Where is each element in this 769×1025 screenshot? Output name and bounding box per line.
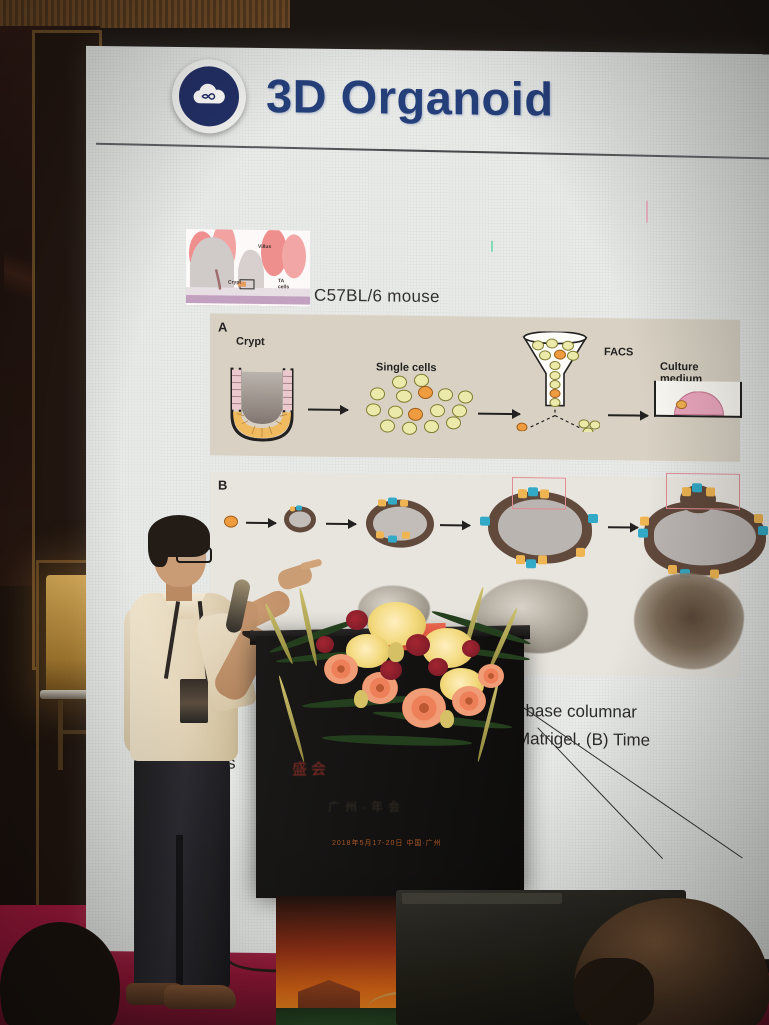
wooden-ceiling	[0, 0, 290, 28]
single-cell-cloud	[210, 313, 740, 319]
arrow-1	[308, 409, 348, 411]
villi-label-crypt: Crypt	[228, 280, 241, 286]
intestinal-villi-figure: Villus Crypt TA cells	[186, 229, 310, 307]
villi-label-ta-cells: TA cells	[278, 278, 296, 290]
title-divider	[96, 143, 769, 160]
stage-early-sphere	[210, 471, 740, 477]
page-title: 3D Organoid	[266, 68, 554, 127]
panel-a-letter: A	[218, 319, 227, 334]
equipment-bezel	[402, 893, 562, 904]
presentation-photo: 3D Organoid	[0, 0, 769, 1025]
badge	[180, 679, 208, 723]
caption-right-line-1: f base columnar	[516, 697, 650, 727]
green-artifact	[491, 241, 493, 252]
zoom-box-1	[512, 477, 566, 510]
cloud-infinity-logo-icon	[172, 59, 246, 134]
villi-label-villus: Villus	[258, 244, 271, 250]
arrow-3	[608, 414, 648, 416]
podium-subtitle-cn: 广州·年会	[328, 798, 405, 815]
pink-artifact	[646, 201, 648, 223]
flower-arrangement	[262, 576, 530, 786]
stage-mature-organoid	[210, 471, 740, 477]
stage-cyst	[210, 471, 740, 477]
arrow-b2	[326, 523, 356, 525]
facs-funnel-illustration	[510, 331, 600, 432]
panel-b-letter: B	[218, 477, 227, 492]
arrow-b3	[440, 524, 470, 526]
micrograph-3	[634, 573, 744, 670]
mouse-strain-label: C57BL/6 mouse	[314, 286, 440, 308]
stage-budding-cyst	[210, 471, 740, 477]
label-facs: FACS	[604, 346, 633, 358]
hair-side	[148, 529, 168, 567]
label-single-cells: Single cells	[376, 361, 437, 374]
podium-date-line: 2018年5月17-20日 中国·广州	[332, 838, 442, 848]
lamp-stem	[58, 700, 63, 770]
crypt-illustration	[226, 366, 298, 447]
label-crypt: Crypt	[236, 336, 265, 348]
leg-gap	[176, 835, 183, 985]
figure-caption-right: f base columnar Matrigel. (B) Time	[516, 697, 650, 755]
figure-panel-a: A Crypt	[210, 313, 740, 461]
arrow-b4	[608, 526, 638, 528]
shoe-right	[164, 985, 236, 1009]
culture-dish-illustration	[654, 381, 742, 418]
zoom-box-2	[666, 473, 740, 510]
